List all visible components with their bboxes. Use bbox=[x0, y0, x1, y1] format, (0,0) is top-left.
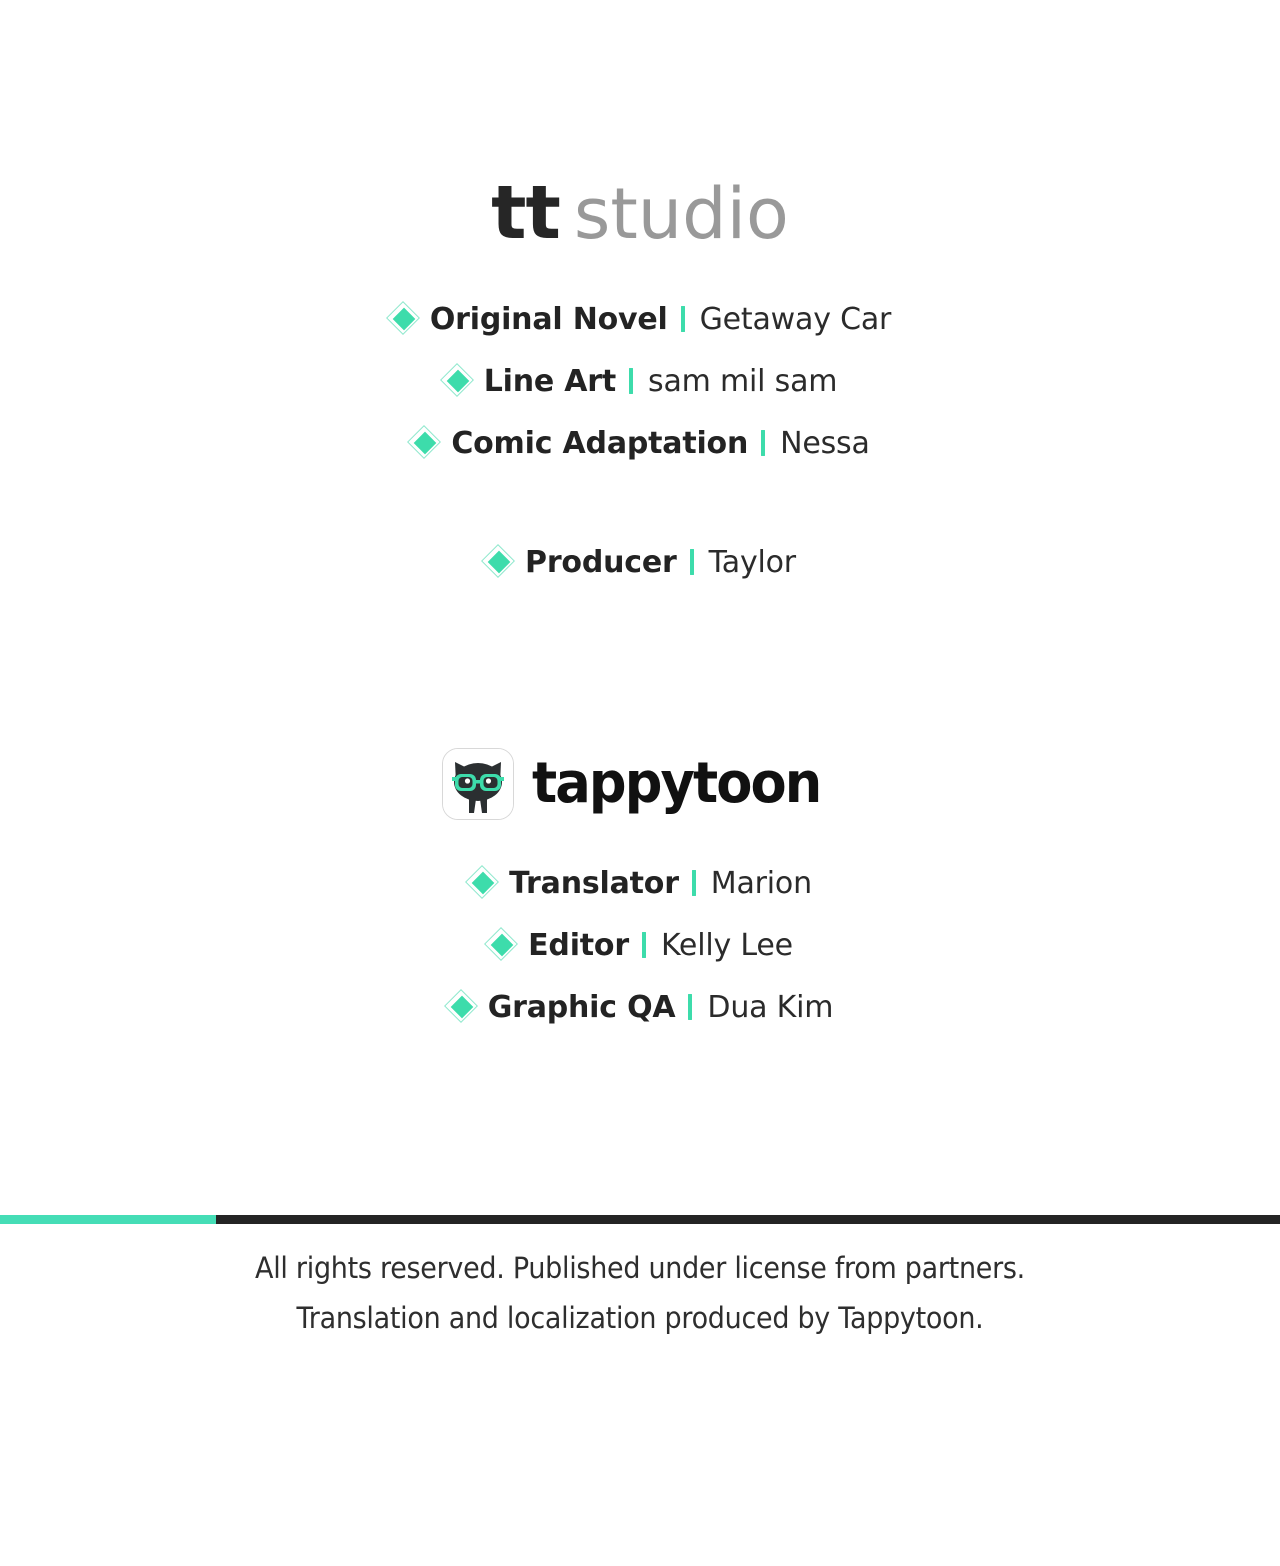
credit-role-label: Original Novel bbox=[430, 302, 668, 337]
credit-row: Comic Adaptation Nessa bbox=[0, 412, 1280, 474]
credit-role-label: Editor bbox=[528, 928, 629, 963]
credits-page: ttstudio Original Novel Getaway Car Line… bbox=[0, 0, 1280, 1566]
tt-logo-mark: tt bbox=[491, 170, 560, 256]
credit-role-label: Producer bbox=[525, 545, 677, 580]
credit-row: Translator Marion bbox=[0, 852, 1280, 914]
credit-person-name: Getaway Car bbox=[700, 302, 892, 337]
credit-person-name: Kelly Lee bbox=[661, 928, 793, 963]
credit-separator-icon bbox=[681, 306, 685, 332]
footer-divider bbox=[0, 1215, 1280, 1224]
credit-role-label: Comic Adaptation bbox=[451, 426, 748, 461]
credit-separator-icon bbox=[642, 932, 646, 958]
footer-divider-accent-segment bbox=[0, 1215, 216, 1224]
credits-group-producer: Producer Taylor bbox=[0, 531, 1280, 593]
diamond-bullet-icon bbox=[389, 304, 419, 334]
credit-row: Line Art sam mil sam bbox=[0, 350, 1280, 412]
footer-legal-text: All rights reserved. Published under lic… bbox=[0, 1243, 1280, 1343]
diamond-bullet-icon bbox=[443, 366, 473, 396]
credit-row: Producer Taylor bbox=[0, 531, 1280, 593]
credit-person-name: Marion bbox=[711, 866, 812, 901]
tappytoon-brand: tappytoon bbox=[0, 748, 1280, 820]
credit-person-name: Nessa bbox=[780, 426, 870, 461]
credit-row: Editor Kelly Lee bbox=[0, 914, 1280, 976]
credit-person-name: sam mil sam bbox=[648, 364, 837, 399]
credit-person-name: Taylor bbox=[709, 545, 796, 580]
credits-group-production: Original Novel Getaway Car Line Art sam … bbox=[0, 288, 1280, 474]
credit-role-label: Graphic QA bbox=[488, 990, 676, 1025]
credit-role-label: Translator bbox=[509, 866, 679, 901]
credits-group-localization: Translator Marion Editor Kelly Lee Graph… bbox=[0, 852, 1280, 1038]
diamond-bullet-icon bbox=[410, 428, 440, 458]
footer-legal-line-2: Translation and localization produced by… bbox=[45, 1293, 1235, 1343]
credit-row: Graphic QA Dua Kim bbox=[0, 976, 1280, 1038]
credit-row: Original Novel Getaway Car bbox=[0, 288, 1280, 350]
tappytoon-wordmark: tappytoon bbox=[532, 756, 820, 812]
credit-separator-icon bbox=[690, 549, 694, 575]
credit-separator-icon bbox=[629, 368, 633, 394]
diamond-bullet-icon bbox=[484, 547, 514, 577]
diamond-bullet-icon bbox=[487, 930, 517, 960]
footer-divider-dark-segment bbox=[216, 1215, 1280, 1224]
credit-separator-icon bbox=[688, 994, 692, 1020]
tt-studio-logo: ttstudio bbox=[0, 176, 1280, 250]
diamond-bullet-icon bbox=[447, 992, 477, 1022]
footer-legal-line-1: All rights reserved. Published under lic… bbox=[45, 1243, 1235, 1293]
credit-separator-icon bbox=[761, 430, 765, 456]
credit-role-label: Line Art bbox=[484, 364, 616, 399]
tappytoon-cat-icon bbox=[442, 748, 514, 820]
credit-person-name: Dua Kim bbox=[707, 990, 833, 1025]
credit-separator-icon bbox=[692, 870, 696, 896]
diamond-bullet-icon bbox=[468, 868, 498, 898]
tt-logo-word: studio bbox=[574, 173, 789, 255]
